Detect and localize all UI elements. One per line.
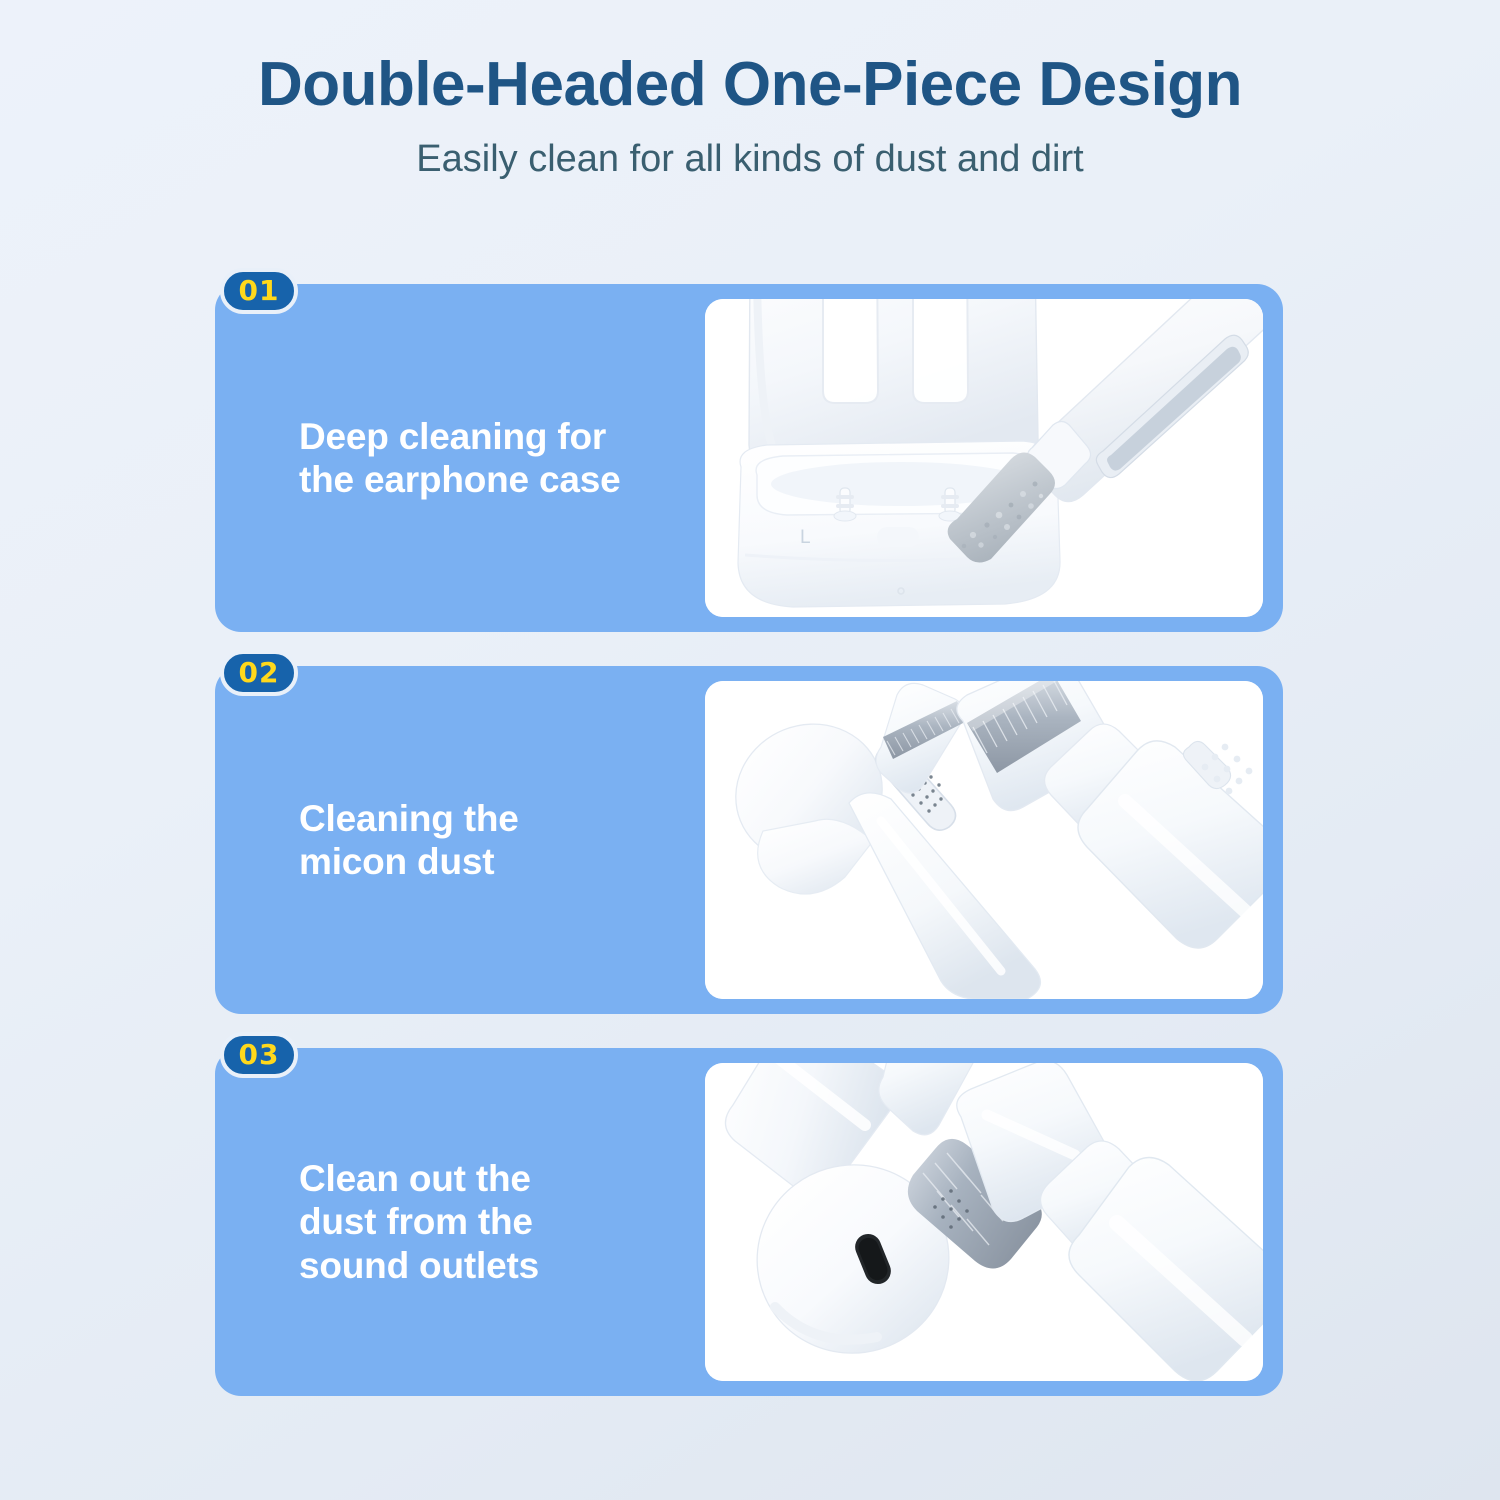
caption-line: dust from the — [299, 1200, 699, 1243]
feature-card-01: 01 Deep cleaning for the earphone case — [215, 268, 1283, 632]
page-title: Double-Headed One-Piece Design — [0, 52, 1500, 117]
product-photo-03 — [705, 1063, 1263, 1381]
step-badge-label: 02 — [239, 659, 280, 687]
step-badge-02: 02 — [220, 650, 298, 696]
earbud-sound-outlet-brush-illustration — [705, 1063, 1263, 1381]
charging-case-illustration: L R — [705, 299, 1263, 617]
feature-card-list: 01 Deep cleaning for the earphone case — [215, 268, 1283, 1414]
step-badge-03: 03 — [220, 1032, 298, 1078]
page-header: Double-Headed One-Piece Design Easily cl… — [0, 0, 1500, 181]
feature-card-03: 03 Clean out the dust from the sound out… — [215, 1032, 1283, 1396]
step-badge-label: 01 — [239, 277, 280, 305]
caption-line: Cleaning the — [299, 797, 699, 840]
card-caption-02: Cleaning the micon dust — [299, 666, 699, 1014]
step-badge-01: 01 — [220, 268, 298, 314]
caption-line: Deep cleaning for — [299, 415, 699, 458]
caption-line: micon dust — [299, 840, 699, 883]
product-photo-01: L R — [705, 299, 1263, 617]
earbud-mic-brush-illustration — [705, 681, 1263, 999]
product-photo-02 — [705, 681, 1263, 999]
caption-line: Clean out the — [299, 1157, 699, 1200]
caption-line: sound outlets — [299, 1244, 699, 1287]
card-caption-03: Clean out the dust from the sound outlet… — [299, 1048, 699, 1396]
feature-card-02: 02 Cleaning the micon dust — [215, 650, 1283, 1014]
card-caption-01: Deep cleaning for the earphone case — [299, 284, 699, 632]
label-left: L — [800, 527, 811, 548]
caption-line: the earphone case — [299, 458, 699, 501]
page-subtitle: Easily clean for all kinds of dust and d… — [0, 139, 1500, 181]
step-badge-label: 03 — [239, 1041, 280, 1069]
